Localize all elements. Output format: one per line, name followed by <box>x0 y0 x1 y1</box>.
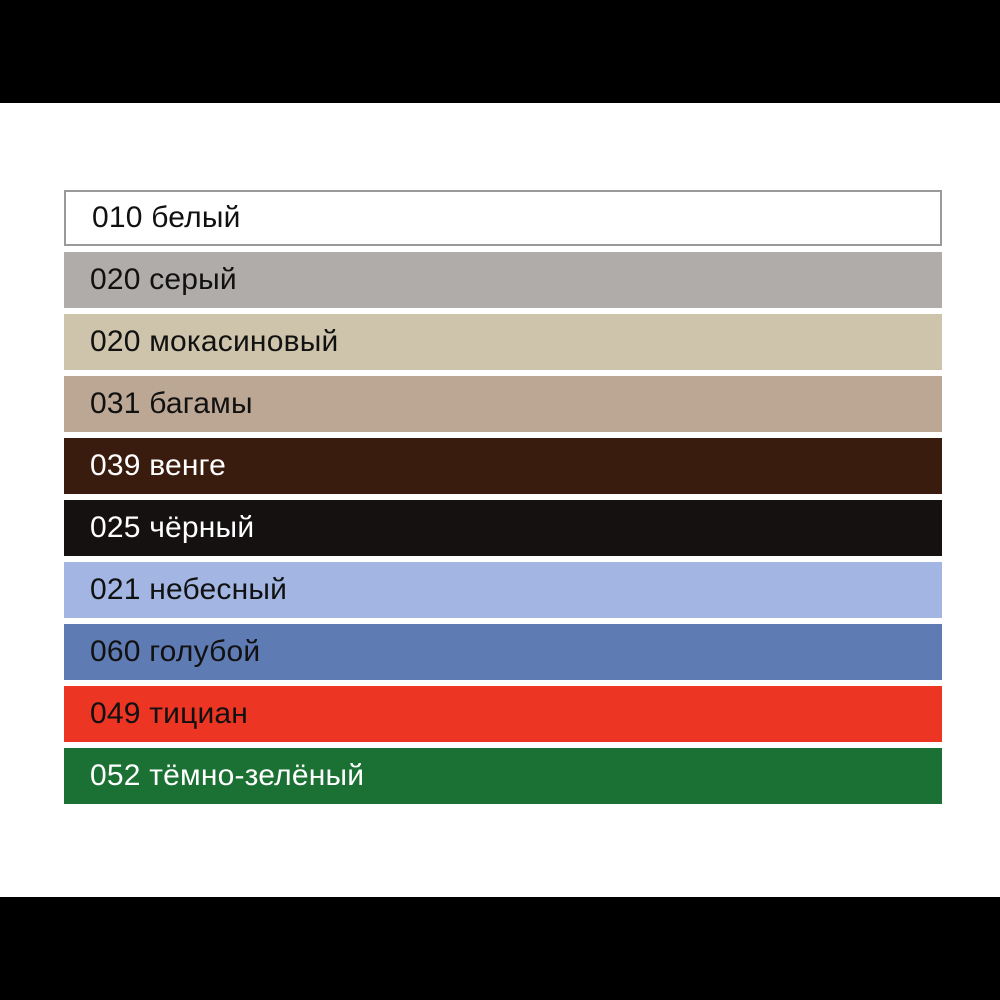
color-swatch-chart: 010 белый020 серый020 мокасиновый031 баг… <box>0 0 1000 1000</box>
swatch-list: 010 белый020 серый020 мокасиновый031 баг… <box>64 190 942 804</box>
swatch-label: 052 тёмно-зелёный <box>64 761 364 791</box>
swatch-label: 021 небесный <box>64 575 287 605</box>
swatch-label: 031 багамы <box>64 389 253 419</box>
swatch-row[interactable]: 052 тёмно-зелёный <box>64 748 942 804</box>
swatch-row[interactable]: 031 багамы <box>64 376 942 432</box>
swatch-row[interactable]: 020 серый <box>64 252 942 308</box>
swatch-row[interactable]: 060 голубой <box>64 624 942 680</box>
swatch-label: 020 мокасиновый <box>64 327 338 357</box>
swatch-row[interactable]: 039 венге <box>64 438 942 494</box>
letterbox-bottom <box>0 897 1000 1000</box>
swatch-label: 025 чёрный <box>64 513 254 543</box>
swatch-label: 039 венге <box>64 451 226 481</box>
swatch-row[interactable]: 025 чёрный <box>64 500 942 556</box>
swatch-row[interactable]: 049 тициан <box>64 686 942 742</box>
swatch-label: 010 белый <box>66 203 241 233</box>
swatch-label: 060 голубой <box>64 637 260 667</box>
swatch-label: 049 тициан <box>64 699 248 729</box>
letterbox-top <box>0 0 1000 103</box>
swatch-row[interactable]: 021 небесный <box>64 562 942 618</box>
swatch-label: 020 серый <box>64 265 237 295</box>
swatch-row[interactable]: 010 белый <box>64 190 942 246</box>
swatch-row[interactable]: 020 мокасиновый <box>64 314 942 370</box>
